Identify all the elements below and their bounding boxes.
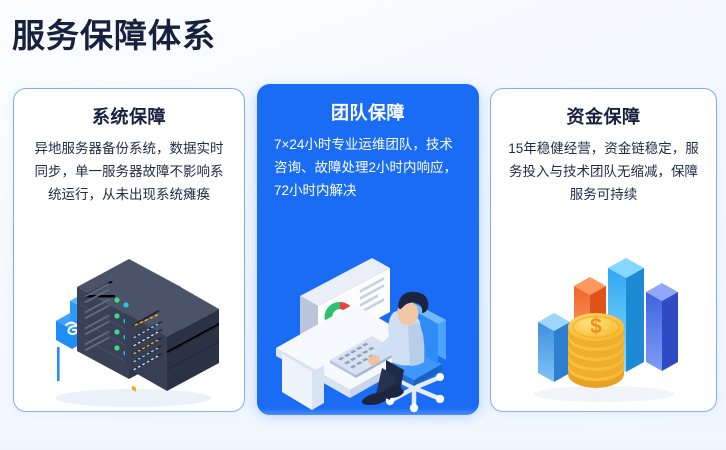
card-description-team: 7×24小时专业运维团队，技术咨询、故障处理2小时内响应，72小时内解决 — [274, 133, 462, 203]
dollar-symbol: $ — [590, 315, 602, 338]
bar-4 — [646, 283, 678, 371]
card-description-funds: 15年稳健经营，资金链稳定，服务投入与技术团队无缩减，保障服务可持续 — [505, 137, 702, 207]
card-funds-guarantee[interactable]: 资金保障 15年稳健经营，资金链稳定，服务投入与技术团队无缩减，保障服务可持续 — [490, 88, 717, 412]
person-at-desk-illustration — [258, 239, 478, 414]
card-system-guarantee[interactable]: 系统保障 异地服务器备份系统，数据实时同步，单一服务器故障不影响系统运行，从未出… — [13, 88, 245, 412]
coin-stack: $ — [568, 313, 624, 388]
card-title-system: 系统保障 — [14, 103, 244, 129]
card-title-funds: 资金保障 — [491, 103, 716, 129]
card-team-guarantee[interactable]: 团队保障 7×24小时专业运维团队，技术咨询、故障处理2小时内响应，72小时内解… — [257, 84, 479, 415]
page-title: 服务保障体系 — [12, 16, 216, 56]
server-rack-illustration — [14, 236, 244, 411]
bar-1 — [538, 313, 570, 382]
bar-chart-coins-illustration: $ — [491, 236, 716, 411]
card-description-system: 异地服务器备份系统，数据实时同步，单一服务器故障不影响系统运行，从未出现系统瘫痪 — [28, 137, 230, 207]
card-title-team: 团队保障 — [258, 99, 478, 125]
